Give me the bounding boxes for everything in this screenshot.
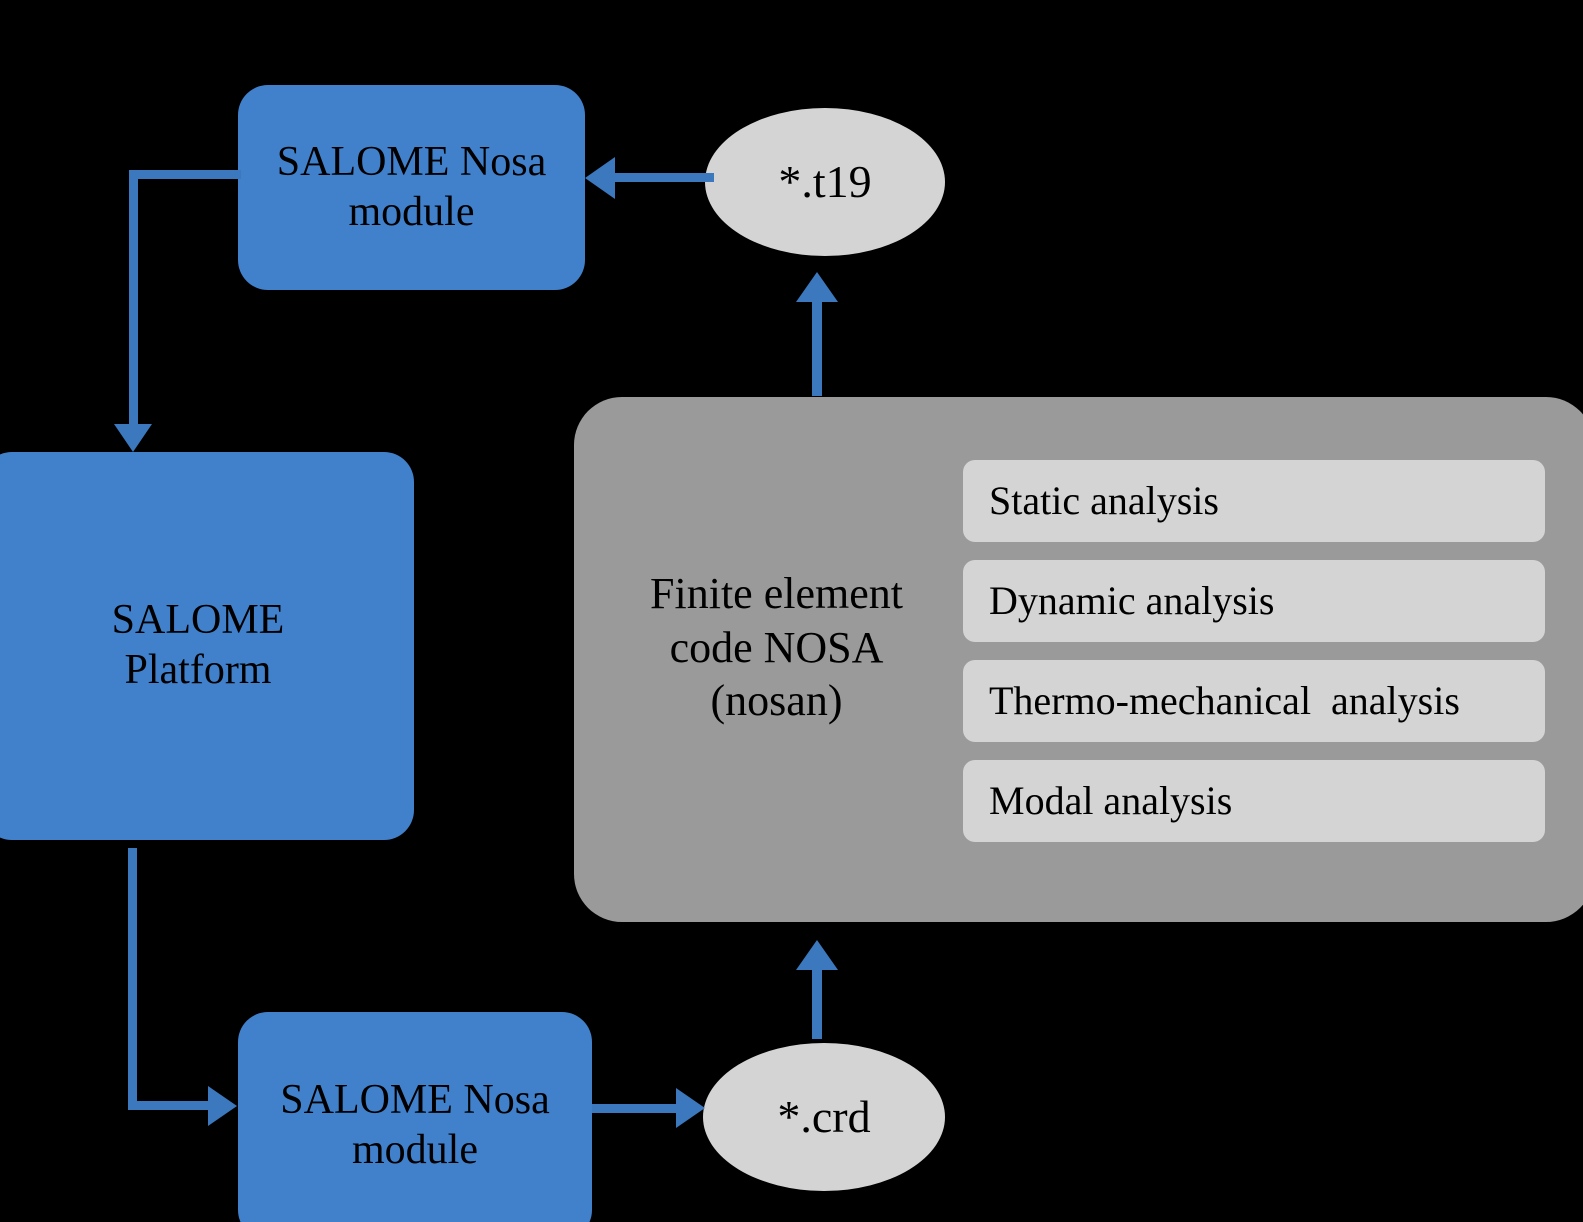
- arrowhead-module-top-to-platform: [114, 424, 152, 452]
- arrowhead-panel-to-t19: [796, 272, 838, 302]
- file-node-t19-label: *.t19: [778, 155, 871, 209]
- analysis-chip-thermo-mechanical[interactable]: Thermo-mechanical analysis: [963, 660, 1545, 742]
- nosa-code-panel: Finite element code NOSA (nosan) Static …: [574, 397, 1583, 922]
- analysis-chip-modal-label: Modal analysis: [989, 777, 1232, 824]
- salome-nosa-module-top[interactable]: SALOME Nosa module: [238, 85, 585, 290]
- file-node-crd[interactable]: *.crd: [703, 1043, 945, 1191]
- connector-platform-to-module-bottom-vertical: [128, 848, 137, 1110]
- nosa-panel-title: Finite element code NOSA (nosan): [604, 567, 949, 728]
- salome-platform[interactable]: SALOME Platform: [0, 452, 414, 840]
- analysis-chip-thermo-mechanical-label: Thermo-mechanical analysis: [989, 677, 1460, 724]
- analysis-chip-static[interactable]: Static analysis: [963, 460, 1545, 542]
- file-node-crd-label: *.crd: [777, 1090, 870, 1144]
- salome-nosa-module-top-line1: SALOME Nosa: [277, 138, 547, 188]
- connector-panel-to-t19: [812, 300, 822, 396]
- analysis-chip-static-label: Static analysis: [989, 477, 1219, 524]
- diagram-canvas: Finite element code NOSA (nosan) Static …: [0, 0, 1583, 1222]
- nosa-panel-title-line1: Finite element: [604, 567, 949, 621]
- file-node-t19[interactable]: *.t19: [705, 108, 945, 256]
- salome-nosa-module-bottom[interactable]: SALOME Nosa module: [238, 1012, 592, 1222]
- connector-module-bottom-to-crd: [592, 1104, 680, 1113]
- connector-t19-to-module-top: [614, 173, 714, 182]
- arrowhead-crd-to-panel: [796, 940, 838, 970]
- salome-platform-line1: SALOME: [112, 596, 285, 646]
- arrowhead-t19-to-module-top: [585, 157, 615, 199]
- salome-nosa-module-bottom-line2: module: [352, 1126, 478, 1176]
- connector-module-top-to-platform-vertical: [129, 170, 138, 428]
- salome-platform-line2: Platform: [125, 646, 272, 696]
- salome-nosa-module-top-line2: module: [349, 188, 475, 238]
- salome-nosa-module-bottom-line1: SALOME Nosa: [280, 1076, 550, 1126]
- analysis-chip-dynamic-label: Dynamic analysis: [989, 577, 1275, 624]
- connector-platform-to-module-bottom-horizontal: [128, 1101, 218, 1110]
- nosa-panel-title-line3: (nosan): [604, 674, 949, 728]
- arrowhead-platform-to-module-bottom: [208, 1086, 237, 1126]
- analysis-chip-modal[interactable]: Modal analysis: [963, 760, 1545, 842]
- arrowhead-module-bottom-to-crd: [676, 1088, 705, 1128]
- nosa-panel-title-line2: code NOSA: [604, 621, 949, 675]
- analysis-chip-dynamic[interactable]: Dynamic analysis: [963, 560, 1545, 642]
- connector-crd-to-panel: [812, 967, 822, 1039]
- connector-module-top-to-platform-horizontal: [129, 170, 241, 179]
